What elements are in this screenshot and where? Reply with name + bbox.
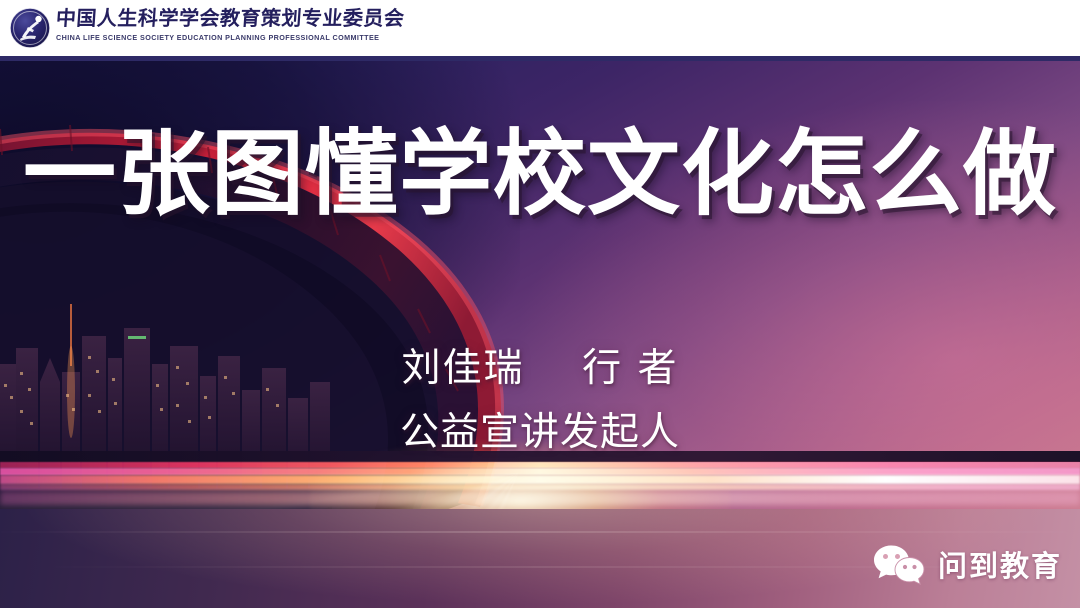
streak-orange-lower <box>0 484 1080 490</box>
header-divider-rule <box>0 56 1080 61</box>
streak-bright-core <box>0 475 1080 484</box>
organization-name-en: CHINA LIFE SCIENCE SOCIETY EDUCATION PLA… <box>56 32 476 43</box>
slide-title: 一张图懂学校文化怎么做 <box>0 124 1080 224</box>
organization-name-block: 中国人生科学学会教育策划专业委员会 CHINA LIFE SCIENCE SOC… <box>56 5 476 43</box>
speaker-name-line: 刘佳瑞 行 者 <box>0 340 1080 398</box>
streak-magenta <box>0 468 1080 475</box>
organization-name-cn: 中国人生科学学会教育策划专业委员会 <box>55 5 477 31</box>
wechat-watermark: 问到教育 <box>872 542 1062 586</box>
wechat-logo-icon <box>872 542 926 586</box>
reflection-line-1 <box>0 531 1080 533</box>
speaker-role-line: 公益宣讲发起人 <box>0 404 1080 462</box>
running-figure-circle-logo-icon <box>8 6 52 50</box>
wechat-account-label: 问到教育 <box>938 543 1062 585</box>
slide-subtitle-block: 刘佳瑞 行 者 公益宣讲发起人 <box>0 340 1080 462</box>
slide-header: 中国人生科学学会教育策划专业委员会 CHINA LIFE SCIENCE SOC… <box>0 0 1080 58</box>
presentation-slide: 中国人生科学学会教育策划专业委员会 CHINA LIFE SCIENCE SOC… <box>0 0 1080 608</box>
streak-soft-pink <box>0 491 1080 505</box>
